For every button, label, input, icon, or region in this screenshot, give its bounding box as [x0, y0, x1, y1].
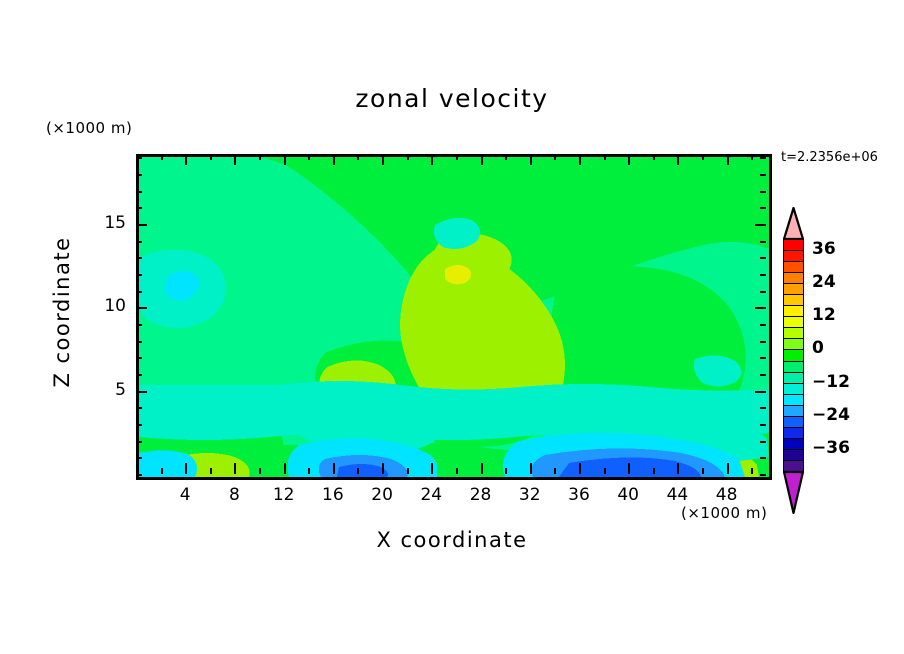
x-axis-unit-label: (×1000 m) [681, 504, 767, 522]
y-tick-mark [136, 357, 142, 359]
y-tick-mark-right [760, 357, 766, 359]
x-tick-mark-top [579, 154, 581, 165]
y-tick-mark-right [760, 191, 766, 193]
x-tick-mark [234, 463, 236, 474]
y-tick-mark [136, 224, 147, 226]
y-tick-mark-right [760, 374, 766, 376]
y-tick-mark-right [755, 224, 766, 226]
x-tick-mark [456, 468, 458, 474]
x-tick-mark [431, 463, 433, 474]
x-tick-mark [259, 468, 261, 474]
x-tick-mark [751, 468, 753, 474]
x-tick-mark-top [407, 154, 409, 160]
y-tick-mark [136, 157, 142, 159]
x-tick-label: 32 [510, 485, 550, 505]
x-tick-mark [185, 463, 187, 474]
colorbar-tick-label: 12 [812, 305, 836, 325]
x-tick-label: 40 [608, 485, 648, 505]
x-tick-mark [505, 468, 507, 474]
y-tick-mark [136, 291, 142, 293]
x-tick-mark [308, 468, 310, 474]
x-tick-mark-top [357, 154, 359, 160]
colorbar-tick-label: −36 [812, 438, 850, 458]
colorbar-over-arrow [783, 207, 804, 240]
y-tick-mark-right [760, 207, 766, 209]
x-tick-mark-top [481, 154, 483, 165]
x-tick-label: 12 [264, 485, 304, 505]
x-tick-mark-top [604, 154, 606, 160]
y-tick-mark-right [755, 391, 766, 393]
y-tick-mark [136, 324, 142, 326]
x-tick-mark-top [554, 154, 556, 160]
x-tick-label: 16 [313, 485, 353, 505]
y-tick-mark [136, 174, 142, 176]
y-tick-mark [136, 424, 142, 426]
x-tick-mark [554, 468, 556, 474]
y-axis-unit-label: (×1000 m) [46, 119, 132, 137]
x-axis-title: X coordinate [0, 528, 904, 552]
colorbar-under-arrow [783, 470, 804, 514]
x-tick-mark-top [308, 154, 310, 160]
y-tick-mark [136, 191, 142, 193]
colorbar-tick-label: −12 [812, 372, 850, 392]
x-tick-mark [481, 463, 483, 474]
y-tick-mark-right [760, 441, 766, 443]
y-tick-label: 5 [86, 380, 126, 400]
x-tick-mark [357, 468, 359, 474]
x-tick-mark [161, 468, 163, 474]
x-tick-mark-top [234, 154, 236, 165]
x-tick-mark [702, 468, 704, 474]
x-tick-label: 20 [362, 485, 402, 505]
x-tick-mark-top [653, 154, 655, 160]
y-tick-mark [136, 274, 142, 276]
y-tick-label: 15 [86, 213, 126, 233]
x-tick-mark-top [727, 154, 729, 165]
y-tick-mark-right [760, 407, 766, 409]
y-tick-mark [136, 341, 142, 343]
x-tick-label: 36 [559, 485, 599, 505]
x-tick-mark-top [702, 154, 704, 160]
x-tick-mark [727, 463, 729, 474]
x-tick-mark-top [628, 154, 630, 165]
chart-title: zonal velocity [0, 84, 904, 113]
y-tick-mark-right [760, 341, 766, 343]
x-tick-mark-top [505, 154, 507, 160]
y-tick-mark [136, 407, 142, 409]
x-tick-label: 48 [707, 485, 747, 505]
figure-canvas: zonal velocity (×1000 m) (×1000 m) X coo… [0, 0, 904, 654]
x-tick-mark-top [259, 154, 261, 160]
x-tick-label: 4 [165, 485, 205, 505]
x-tick-mark [677, 463, 679, 474]
x-tick-mark [284, 463, 286, 474]
x-tick-mark-top [456, 154, 458, 160]
contour-plot-area [136, 154, 772, 480]
x-tick-mark [382, 463, 384, 474]
y-tick-mark-right [760, 424, 766, 426]
y-tick-mark [136, 207, 142, 209]
x-tick-mark-top [210, 154, 212, 160]
x-tick-label: 44 [657, 485, 697, 505]
y-tick-mark [136, 241, 142, 243]
timestamp-annotation: t=2.2356e+06 [781, 150, 878, 165]
y-tick-mark-right [760, 174, 766, 176]
x-tick-mark [530, 463, 532, 474]
x-tick-mark-top [677, 154, 679, 165]
x-tick-mark-top [333, 154, 335, 165]
y-tick-mark-right [760, 241, 766, 243]
y-tick-mark-right [760, 324, 766, 326]
x-tick-label: 24 [411, 485, 451, 505]
x-tick-mark [628, 463, 630, 474]
x-tick-mark-top [530, 154, 532, 165]
y-tick-mark-right [760, 474, 766, 476]
x-tick-mark-top [431, 154, 433, 165]
y-tick-mark-right [760, 157, 766, 159]
x-tick-label: 28 [461, 485, 501, 505]
colorbar-tick-label: −24 [812, 405, 850, 425]
x-tick-mark [579, 463, 581, 474]
colorbar-tick-label: 24 [812, 272, 836, 292]
x-tick-mark-top [751, 154, 753, 160]
x-tick-mark-top [284, 154, 286, 165]
y-tick-mark-right [760, 457, 766, 459]
x-tick-mark [653, 468, 655, 474]
y-tick-mark [136, 441, 142, 443]
x-tick-label: 8 [214, 485, 254, 505]
x-tick-mark [407, 468, 409, 474]
x-tick-mark-top [185, 154, 187, 165]
colorbar-tick-label: 0 [812, 338, 824, 358]
x-tick-mark [210, 468, 212, 474]
y-axis-title: Z coordinate [50, 212, 74, 412]
x-tick-mark [604, 468, 606, 474]
x-tick-mark-top [382, 154, 384, 165]
y-tick-mark [136, 374, 142, 376]
y-tick-mark-right [760, 257, 766, 259]
x-tick-mark-top [161, 154, 163, 160]
y-tick-mark-right [760, 274, 766, 276]
colorbar-tick-label: 36 [812, 239, 836, 259]
y-tick-mark [136, 257, 142, 259]
y-tick-mark [136, 474, 142, 476]
colorbar[interactable] [783, 239, 804, 471]
y-tick-mark-right [760, 291, 766, 293]
x-tick-mark [333, 463, 335, 474]
y-tick-mark-right [755, 307, 766, 309]
contour-field [139, 157, 769, 477]
y-tick-mark [136, 457, 142, 459]
y-tick-mark [136, 391, 147, 393]
y-tick-label: 10 [86, 296, 126, 316]
y-tick-mark [136, 307, 147, 309]
